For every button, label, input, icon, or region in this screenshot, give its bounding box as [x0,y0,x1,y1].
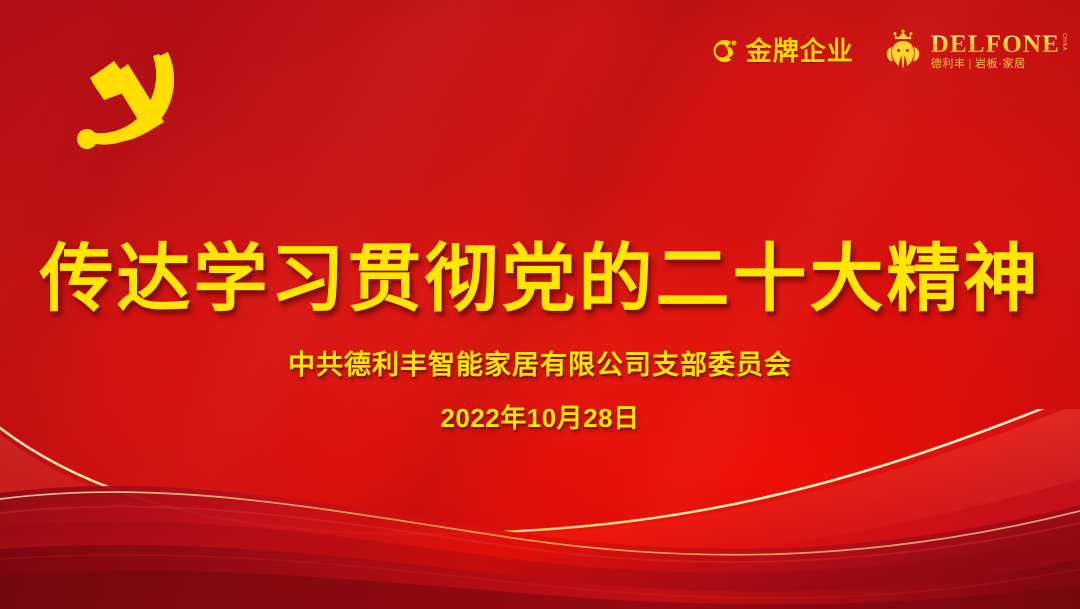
delfone-name: DELFONE [931,32,1060,57]
cpc-party-emblem-icon [56,38,196,162]
crowned-elephant-icon [883,29,923,73]
gold-medal-label: 金牌企业 [746,38,854,64]
delfone-region: CHINA [1061,33,1066,51]
svg-text:R: R [733,42,736,46]
brand-logo-bar: R 金牌企业 [705,24,1066,78]
delfone-sub-separator: | [969,58,972,70]
slide-title: 传达学习贯彻党的二十大精神 [0,242,1080,316]
delfone-name-row: DELFONE CHINA [931,32,1066,57]
gold-medal-enterprise-logo: R 金牌企业 [705,34,854,68]
bottom-ribbon-decoration [0,409,1080,609]
delfone-subtitle: 德利丰|岩板·家居 [931,59,1066,70]
delfone-sub-right: 岩板·家居 [975,58,1026,70]
slide-subtitle-organization: 中共德利丰智能家居有限公司支部委员会 [0,352,1080,379]
delfone-wordmark: DELFONE CHINA 德利丰|岩板·家居 [931,32,1066,70]
slide-date: 2022年10月28日 [0,405,1080,431]
delfone-sub-left: 德利丰 [931,58,966,70]
delfone-logo: DELFONE CHINA 德利丰|岩板·家居 [883,29,1066,73]
gold-medal-c-mark-icon: R [705,34,739,68]
presentation-slide: R 金牌企业 [0,0,1080,609]
